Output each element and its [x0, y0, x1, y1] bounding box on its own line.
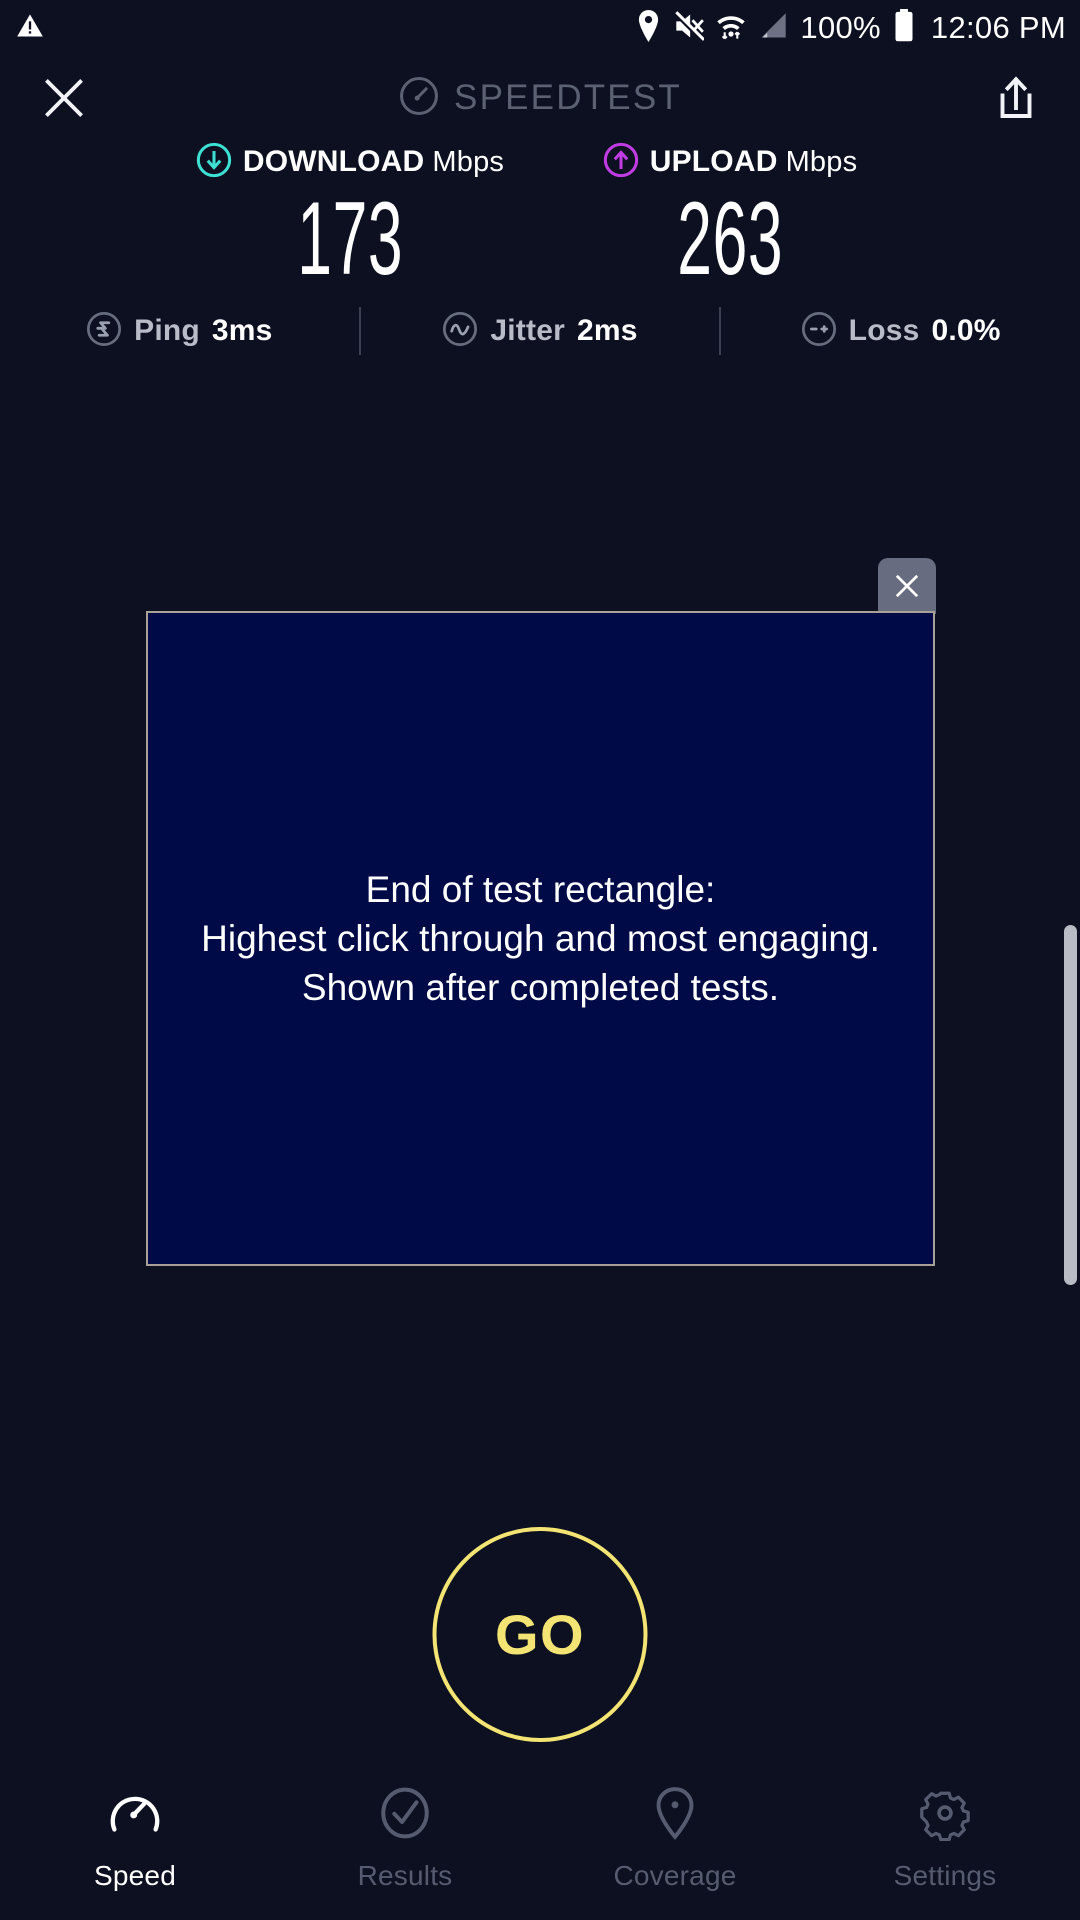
loss-stat: Loss 0.0% [721, 300, 1080, 362]
download-label: DOWNLOAD [243, 145, 425, 179]
ping-icon [86, 311, 122, 352]
go-button[interactable]: GO [433, 1527, 648, 1742]
loss-icon [801, 311, 837, 352]
battery-percent: 100% [800, 10, 881, 46]
wifi-icon [716, 10, 746, 47]
scrollbar-thumb[interactable] [1064, 925, 1077, 1285]
gear-icon [917, 1785, 973, 1846]
ping-value: 3ms [212, 314, 273, 348]
download-value: 173 [297, 186, 403, 292]
jitter-label: Jitter [490, 314, 565, 348]
ad-container[interactable]: End of test rectangle:Highest click thro… [146, 611, 935, 1266]
download-metric: DOWNLOAD Mbps 173 [160, 140, 540, 292]
download-unit: Mbps [432, 146, 504, 179]
warning-triangle-icon [16, 12, 44, 45]
nav-item-coverage[interactable]: Coverage [540, 1785, 810, 1892]
nav-label-results: Results [358, 1860, 453, 1892]
speedometer-icon [398, 75, 440, 122]
ad-text: End of test rectangle:Highest click thro… [183, 865, 898, 1012]
go-button-label: GO [495, 1602, 585, 1667]
ping-stat: Ping 3ms [0, 300, 359, 362]
jitter-icon [442, 311, 478, 352]
jitter-stat: Jitter 2ms [361, 300, 720, 362]
upload-metric: UPLOAD Mbps 263 [540, 140, 920, 292]
nav-label-settings: Settings [894, 1860, 997, 1892]
ping-label: Ping [134, 314, 200, 348]
nav-item-settings[interactable]: Settings [810, 1785, 1080, 1892]
loss-value: 0.0% [932, 314, 1001, 348]
nav-item-results[interactable]: Results [270, 1785, 540, 1892]
battery-full-icon [893, 9, 915, 48]
ad-close-button[interactable] [878, 558, 936, 614]
cellular-signal-icon [758, 12, 788, 45]
clock: 12:06 PM [931, 10, 1066, 46]
upload-label: UPLOAD [650, 145, 778, 179]
upload-value: 263 [677, 186, 783, 292]
app-brand: SPEEDTEST [0, 75, 1080, 122]
close-button[interactable] [34, 68, 94, 128]
location-pin-icon [647, 1785, 703, 1846]
loss-label: Loss [849, 314, 920, 348]
status-bar: 100% 12:06 PM [0, 0, 1080, 56]
nav-label-coverage: Coverage [613, 1860, 736, 1892]
speedometer-icon [107, 1785, 163, 1846]
mute-icon [674, 11, 704, 46]
nav-label-speed: Speed [94, 1860, 176, 1892]
speedtest-app-screen: 100% 12:06 PM SP [0, 0, 1080, 1920]
bottom-navigation: Speed Results Coverage [0, 1775, 1080, 1920]
app-header: SPEEDTEST [0, 56, 1080, 140]
upload-arrow-circle-icon [603, 142, 639, 183]
check-circle-icon [377, 1785, 433, 1846]
location-pin-icon [635, 10, 662, 47]
download-arrow-circle-icon [196, 142, 232, 183]
advertisement[interactable]: End of test rectangle:Highest click thro… [146, 611, 935, 1266]
upload-unit: Mbps [786, 146, 858, 179]
app-title: SPEEDTEST [454, 78, 682, 118]
results-summary: DOWNLOAD Mbps 173 UPLOAD Mbps [0, 140, 1080, 292]
jitter-value: 2ms [577, 314, 638, 348]
connection-stats-row: Ping 3ms Jitter 2ms [0, 300, 1080, 362]
share-button[interactable] [986, 68, 1046, 128]
nav-item-speed[interactable]: Speed [0, 1785, 270, 1892]
